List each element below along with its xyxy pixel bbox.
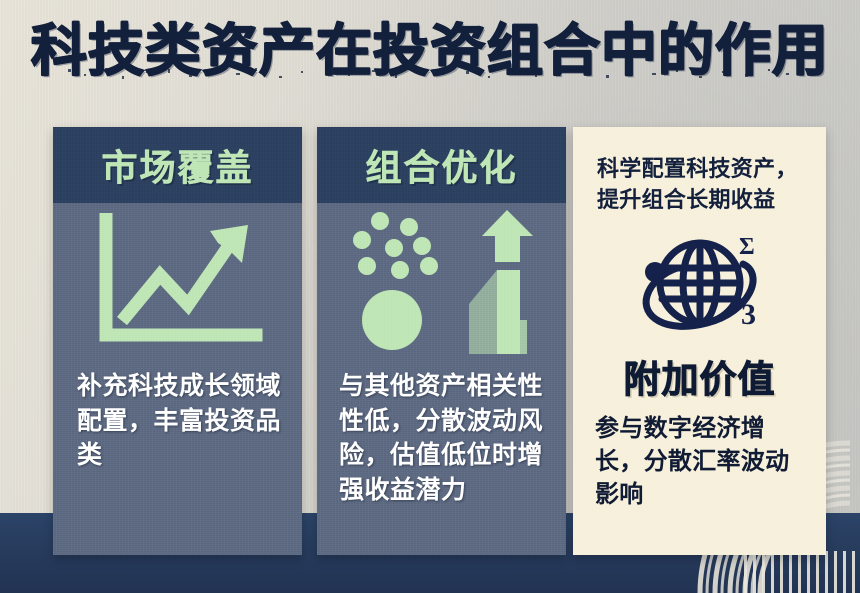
svg-text:Σ: Σ bbox=[739, 234, 755, 260]
card-portfolio-optimization-icon-area bbox=[317, 203, 566, 363]
card-market-coverage-title: 市场覆盖 bbox=[101, 139, 253, 191]
card-added-value-body: 参与数字经济增长，分散汇率波动影响 bbox=[573, 403, 826, 511]
card-portfolio-optimization-body: 与其他资产相关性性低，分散波动风险，估值低位时增强收益潜力 bbox=[317, 363, 566, 507]
card-market-coverage-body: 补充科技成长领域配置，丰富投资品类 bbox=[53, 363, 302, 473]
card-portfolio-optimization-header: 组合优化 bbox=[317, 127, 566, 203]
card-market-coverage[interactable]: 市场覆盖 补充科技成长领域配置，丰富投资品类 bbox=[53, 127, 302, 555]
card-portfolio-optimization-title: 组合优化 bbox=[365, 139, 517, 191]
cards-container: 市场覆盖 补充科技成长领域配置，丰富投资品类 组合优化 bbox=[0, 0, 860, 593]
card-added-value[interactable]: 科学配置科技资产，提升组合长期收益 bbox=[573, 127, 826, 555]
slide-title-container: 科技类资产在投资组合中的作用 bbox=[0, 22, 860, 79]
card-added-value-heading: 附加价值 bbox=[573, 349, 826, 403]
card-added-value-icon-area: Σ 3 bbox=[573, 219, 826, 347]
svg-text:3: 3 bbox=[741, 298, 756, 331]
slide-root: 科技类资产在投资组合中的作用 bbox=[0, 0, 860, 593]
title-distress-speckle-icon bbox=[50, 67, 810, 83]
card-market-coverage-icon-area bbox=[53, 203, 302, 363]
scattered-dots-and-up-arrow-icon bbox=[337, 208, 547, 358]
card-market-coverage-header: 市场覆盖 bbox=[53, 127, 302, 203]
card-portfolio-optimization[interactable]: 组合优化 bbox=[317, 127, 566, 555]
line-chart-uptrend-icon bbox=[88, 213, 268, 353]
globe-network-icon: Σ 3 bbox=[625, 224, 775, 342]
card-added-value-lead-text: 科学配置科技资产，提升组合长期收益 bbox=[573, 127, 826, 215]
